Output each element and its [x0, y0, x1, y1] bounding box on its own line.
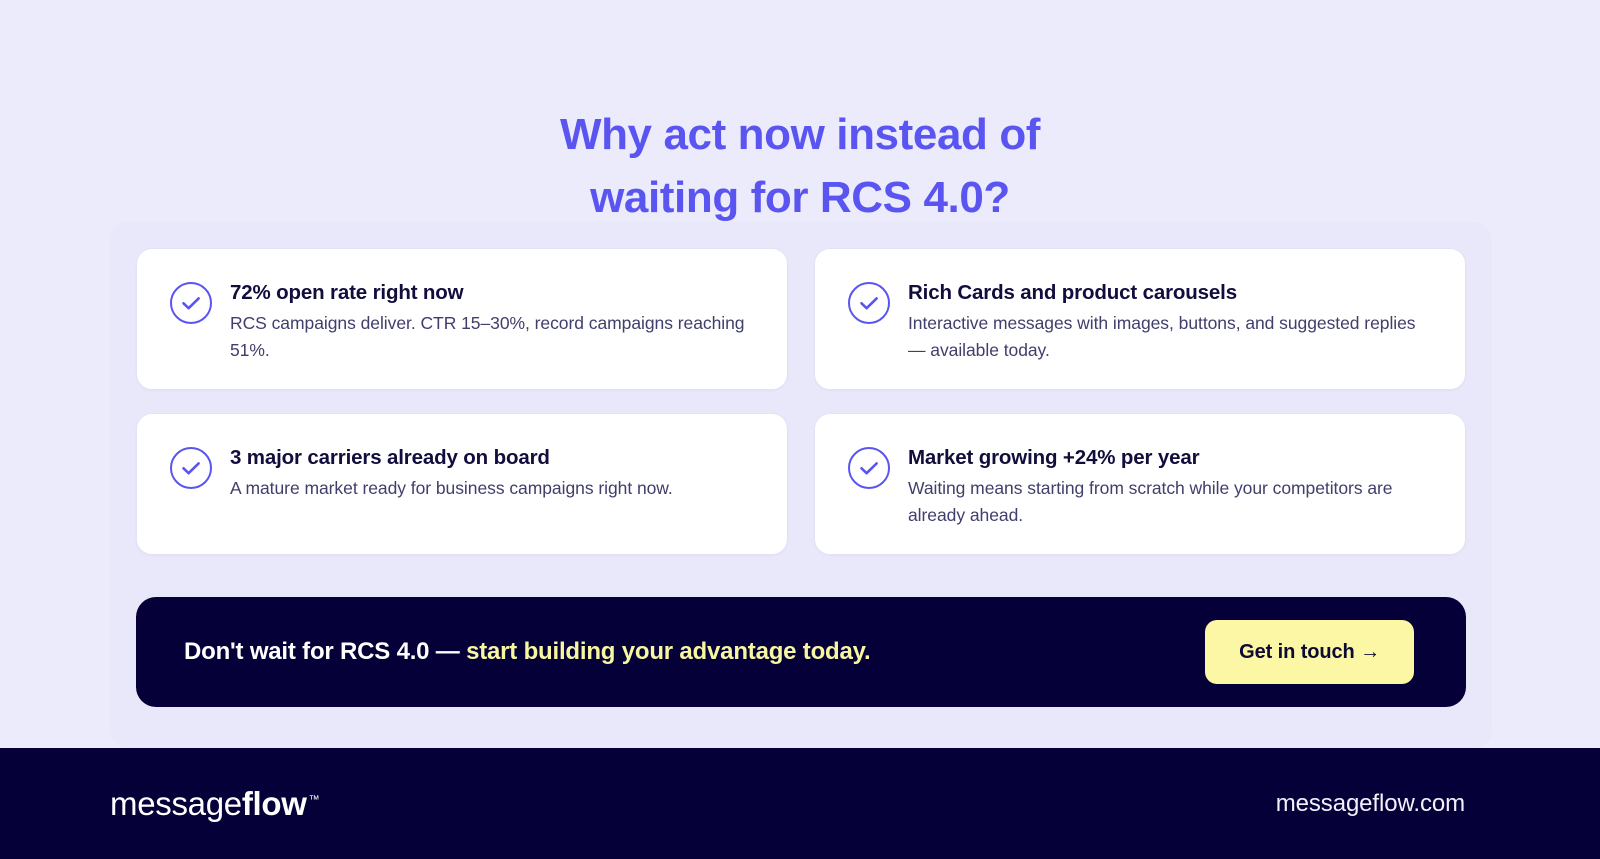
- cta-headline: Don't wait for RCS 4.0 — start building …: [184, 638, 871, 666]
- messageflow-logo[interactable]: messageflow™: [110, 787, 319, 820]
- logo-text-bold: flow: [242, 785, 307, 822]
- check-circle-icon: [847, 446, 891, 490]
- logo-text-light: message: [110, 785, 242, 822]
- get-in-touch-button[interactable]: Get in touch →: [1205, 620, 1414, 684]
- marketing-slide: Why act now instead of waiting for RCS 4…: [0, 0, 1600, 859]
- benefit-card-body: Rich Cards and product carousels Interac…: [908, 279, 1437, 364]
- cta-headline-accent: start building your advantage today.: [466, 638, 870, 665]
- benefit-card-body: 3 major carriers already on board A matu…: [230, 444, 759, 502]
- benefit-card-grid: 72% open rate right now RCS campaigns de…: [136, 248, 1466, 555]
- benefit-card-market-growth: Market growing +24% per year Waiting mea…: [814, 413, 1466, 555]
- benefit-card-title: 3 major carriers already on board: [230, 445, 759, 471]
- check-circle-icon: [847, 281, 891, 325]
- cta-headline-plain: Don't wait for RCS 4.0 —: [184, 638, 466, 665]
- benefit-card-description: A mature market ready for business campa…: [230, 475, 750, 502]
- page-title: Why act now instead of waiting for RCS 4…: [0, 103, 1600, 229]
- check-circle-icon: [169, 446, 213, 490]
- benefit-card-title: 72% open rate right now: [230, 280, 759, 306]
- benefit-card-body: Market growing +24% per year Waiting mea…: [908, 444, 1437, 529]
- benefit-card-carriers: 3 major carriers already on board A matu…: [136, 413, 788, 555]
- page-title-line-1: Why act now instead of: [0, 103, 1600, 166]
- benefit-card-description: Waiting means starting from scratch whil…: [908, 475, 1428, 529]
- benefit-card-rich-cards: Rich Cards and product carousels Interac…: [814, 248, 1466, 390]
- benefit-card-description: Interactive messages with images, button…: [908, 310, 1428, 364]
- check-circle-icon: [169, 281, 213, 325]
- benefit-card-open-rate: 72% open rate right now RCS campaigns de…: [136, 248, 788, 390]
- benefit-card-body: 72% open rate right now RCS campaigns de…: [230, 279, 759, 364]
- benefit-card-description: RCS campaigns deliver. CTR 15–30%, recor…: [230, 310, 750, 364]
- footer: messageflow™ messageflow.com: [0, 748, 1600, 859]
- trademark-icon: ™: [309, 794, 320, 806]
- cta-banner: Don't wait for RCS 4.0 — start building …: [136, 597, 1466, 707]
- page-title-line-2: waiting for RCS 4.0?: [0, 166, 1600, 229]
- benefit-card-title: Market growing +24% per year: [908, 445, 1437, 471]
- benefit-card-title: Rich Cards and product carousels: [908, 280, 1437, 306]
- footer-website-url[interactable]: messageflow.com: [1276, 790, 1465, 818]
